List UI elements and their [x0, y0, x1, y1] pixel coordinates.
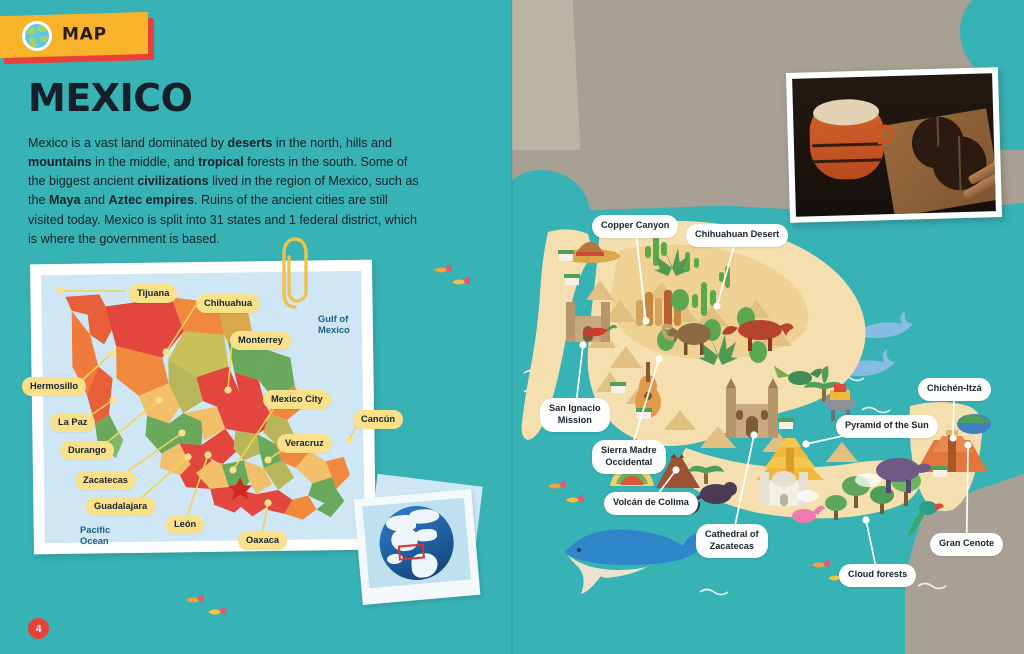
pin-label-cathedral-of[interactable]: Cathedral ofZacatecas: [696, 524, 768, 558]
ocean-label-gulf-of: Gulf ofMexico: [318, 313, 350, 336]
city-label-veracruz[interactable]: Veracruz: [277, 434, 332, 453]
city-label-hermosillo[interactable]: Hermosillo: [22, 377, 86, 396]
city-label-canc-n[interactable]: Cancún: [353, 410, 403, 429]
mexico-highlight-box: [398, 543, 425, 560]
ocean-label-pacific: PacificOcean: [80, 524, 110, 547]
pin-label-volc-n-de-colima[interactable]: Volcán de Colima: [604, 492, 698, 515]
city-label-mexico-city[interactable]: Mexico City: [263, 390, 331, 409]
globe-icon: [22, 21, 52, 51]
left-page: MAP MEXICO Mexico is a vast land dominat…: [0, 0, 512, 654]
city-label-le-n[interactable]: León: [166, 515, 204, 534]
city-label-zacatecas[interactable]: Zacatecas: [75, 471, 136, 490]
intro-paragraph: Mexico is a vast land dominated by deser…: [28, 134, 420, 249]
city-label-monterrey[interactable]: Monterrey: [230, 331, 291, 350]
pin-label-chich-n-itz-[interactable]: Chichén-Itzá: [918, 378, 991, 401]
city-label-tijuana[interactable]: Tijuana: [129, 284, 177, 303]
pin-label-gran-cenote[interactable]: Gran Cenote: [930, 533, 1003, 556]
city-label-oaxaca[interactable]: Oaxaca: [238, 531, 287, 550]
page-number-left: 4: [28, 618, 49, 639]
city-label-la-paz[interactable]: La Paz: [50, 413, 95, 432]
city-label-durango[interactable]: Durango: [60, 441, 114, 460]
chocolate-photo[interactable]: [786, 67, 1002, 223]
city-label-guadalajara[interactable]: Guadalajara: [86, 497, 155, 516]
pin-label-chihuahuan-desert[interactable]: Chihuahuan Desert: [686, 224, 788, 247]
world-globe-icon: [377, 503, 457, 583]
city-label-chihuahua[interactable]: Chihuahua: [196, 294, 260, 313]
page-title: MEXICO: [28, 76, 192, 120]
pin-label-copper-canyon[interactable]: Copper Canyon: [592, 215, 678, 238]
chocolate-photo-image: [792, 73, 996, 217]
right-page: FASCINATING FACT! Mexico is the birthpla…: [512, 0, 1024, 654]
map-badge-label: MAP: [62, 25, 107, 45]
pin-label-san-ignacio[interactable]: San IgnacioMission: [540, 398, 610, 432]
pin-label-pyramid-of-the-sun[interactable]: Pyramid of the Sun: [836, 415, 938, 438]
pin-label-sierra-madre[interactable]: Sierra MadreOccidental: [592, 440, 666, 474]
map-badge[interactable]: MAP: [0, 14, 148, 56]
pin-label-cloud-forests[interactable]: Cloud forests: [839, 564, 916, 587]
page-gutter: [511, 0, 513, 654]
paperclip-icon: [282, 235, 308, 311]
